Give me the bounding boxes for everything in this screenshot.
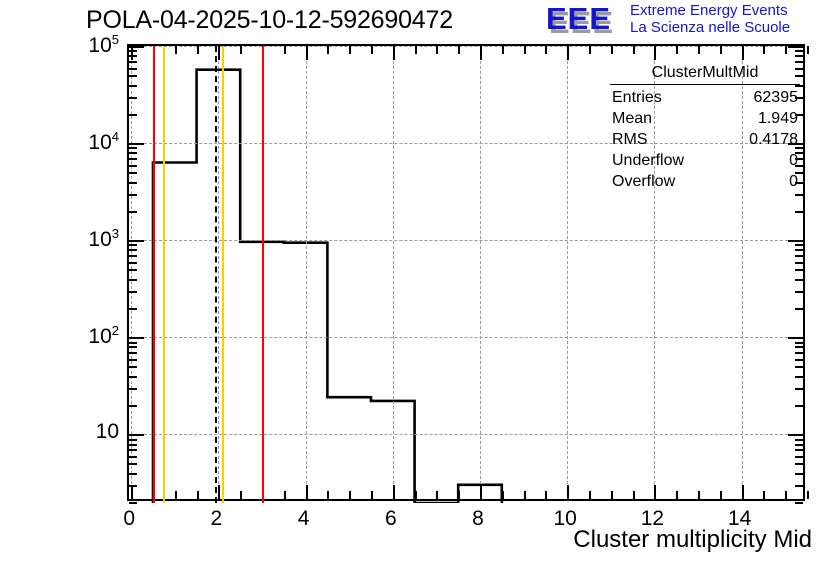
y-axis-tick [129,473,137,475]
x-axis-tick [240,46,242,54]
x-axis-tick [720,491,722,499]
y-axis-tick [129,456,137,458]
y-axis-tick [129,249,137,251]
marker-line-black-mean-dashed [215,46,217,503]
x-axis-tick [785,46,787,54]
y-axis-tick [129,165,137,167]
x-axis-tick [458,46,460,54]
stats-row-value: 0 [789,171,798,192]
marker-line-red-upper-cut [262,46,264,503]
eee-mark-text: EEE [546,3,611,34]
y-axis-tick [795,50,803,52]
y-axis-tick [795,388,803,390]
stats-row-label: RMS [612,129,648,150]
x-axis-tick-label: 8 [448,508,508,529]
x-axis-tick-label: 0 [99,508,159,529]
y-axis-tick [129,68,137,70]
y-axis-tick [129,75,137,77]
x-axis-tick [371,46,373,54]
marker-line-red-lower-cut [153,46,155,503]
y-axis-tick [129,388,137,390]
x-axis-tick [742,46,744,60]
y-axis-tick [795,439,803,441]
y-axis-tick [129,449,137,451]
stats-row: Underflow0 [610,150,800,171]
x-axis-tick [284,491,286,499]
y-axis-tick [129,376,137,378]
y-axis-tick [129,342,137,344]
stats-row-label: Mean [612,108,652,129]
y-axis-tick [788,240,803,242]
y-axis-tick-label: 105 [88,33,119,56]
x-axis-tick [589,46,591,54]
eee-tagline-line2: La Scienza nelle Scuole [630,20,790,36]
y-axis-tick [795,194,803,196]
gridline-vertical [218,46,219,499]
gridline-horizontal [129,337,803,338]
x-axis-tick [393,46,395,60]
y-axis-tick [795,444,803,446]
x-axis-tick [633,46,635,54]
y-axis-tick [129,434,144,436]
x-axis-tick [327,491,329,499]
y-axis-tick [129,359,137,361]
marker-line-orange-lower-warn [163,46,165,503]
y-axis-tick [795,376,803,378]
x-axis-title: Cluster multiplicity Mid [573,527,812,553]
y-axis-tick [129,366,137,368]
x-axis-tick [436,491,438,499]
x-axis-tick [763,491,765,499]
x-axis-tick [197,46,199,54]
x-axis-tick [524,46,526,54]
x-axis-tick [306,485,308,499]
x-axis-tick [327,46,329,54]
y-axis-tick [795,269,803,271]
y-axis-tick [129,114,137,116]
y-axis-tick [129,262,137,264]
x-axis-tick [524,491,526,499]
stats-row-value: 0 [789,150,798,171]
y-axis-tick [129,61,137,63]
y-axis-tick [795,456,803,458]
gridline-horizontal [129,240,803,241]
eee-logo: EEE Extreme Energy Events La Scienza nel… [546,2,832,38]
y-axis-tick [795,502,803,504]
y-axis-tick [129,444,137,446]
x-axis-tick-label: 2 [186,508,246,529]
stats-row-label: Underflow [612,150,684,171]
x-axis-tick [742,485,744,499]
y-axis-tick [129,143,144,145]
gridline-vertical [393,46,394,499]
y-axis-tick [795,359,803,361]
y-axis-tick [129,158,137,160]
y-axis-tick [129,255,137,257]
x-axis-tick [306,46,308,60]
stats-box: ClusterMultMid Entries62395Mean1.949RMS0… [610,62,800,192]
y-axis-tick [795,255,803,257]
y-axis-tick [129,337,144,339]
stats-row-label: Entries [612,87,662,108]
x-axis-tick [415,46,417,54]
y-axis-tick [795,352,803,354]
y-axis-tick [795,405,803,407]
x-axis-tick [131,46,133,60]
x-axis-tick [175,46,177,54]
plot-canvas: POLA-04-2025-10-12-592690472 EEE Extreme… [0,0,836,572]
gridline-horizontal [129,46,803,47]
x-axis-tick [131,485,133,499]
x-axis-tick [698,491,700,499]
x-axis-tick [197,491,199,499]
stats-box-title: ClusterMultMid [610,62,800,85]
y-axis-tick [795,262,803,264]
y-axis-tick [795,308,803,310]
y-axis-tick [129,97,137,99]
stats-row-value: 1.949 [758,108,798,129]
x-axis-tick [633,491,635,499]
histogram-outline [153,70,502,503]
y-axis-tick-label: 10 [96,421,119,442]
gridline-horizontal [129,434,803,435]
y-axis-tick [129,152,137,154]
y-axis-tick [795,55,803,57]
x-axis-tick [763,46,765,54]
y-axis-tick [795,473,803,475]
y-axis-tick [129,291,137,293]
y-axis-tick [795,211,803,213]
y-axis-tick [129,405,137,407]
y-axis-tick [129,85,137,87]
y-axis-tick [129,269,137,271]
x-axis-tick [502,491,504,499]
y-axis-tick [129,194,137,196]
stats-row-label: Overflow [612,171,675,192]
x-axis-tick [371,491,373,499]
stats-row-value: 0.4178 [749,129,798,150]
y-axis-tick [129,346,137,348]
x-axis-tick [240,491,242,499]
y-axis-tick [129,439,137,441]
eee-tagline-line1: Extreme Energy Events [630,3,788,19]
x-axis-tick [545,491,547,499]
y-axis-tick-label: 104 [88,130,119,153]
x-axis-tick [545,46,547,54]
page-title: POLA-04-2025-10-12-592690472 [86,6,453,34]
x-axis-tick [502,46,504,54]
x-axis-tick [218,46,220,60]
x-axis-tick [284,46,286,54]
x-axis-tick-label: 4 [274,508,334,529]
x-axis-tick [349,491,351,499]
y-axis-tick [795,291,803,293]
y-axis-tick [129,172,137,174]
y-axis-tick [129,211,137,213]
y-axis-tick [129,240,144,242]
y-axis-tick [129,182,137,184]
y-axis-tick [129,502,137,504]
x-axis-tick [807,46,809,54]
gridline-vertical [306,46,307,499]
stats-row: RMS0.4178 [610,129,800,150]
x-axis-tick [480,485,482,499]
y-axis-tick [129,352,137,354]
stats-row: Entries62395 [610,87,800,108]
y-axis-tick [795,366,803,368]
x-axis-tick [611,491,613,499]
marker-line-orange-upper-warn [222,46,224,503]
y-axis-tick-label: 103 [88,227,119,250]
y-axis-tick [129,463,137,465]
x-axis-tick [654,485,656,499]
x-axis-tick [349,46,351,54]
stats-row-value: 62395 [754,87,799,108]
y-axis-tick [788,46,803,48]
x-axis-tick [458,491,460,499]
y-axis-tick [788,337,803,339]
y-axis-tick [795,485,803,487]
y-axis-tick [795,249,803,251]
y-axis-tick [795,463,803,465]
x-axis-tick [676,491,678,499]
x-axis-tick [567,46,569,60]
x-axis-tick [393,485,395,499]
gridline-vertical [567,46,568,499]
x-axis-tick-label: 6 [361,508,421,529]
y-axis-tick [788,434,803,436]
stats-row: Overflow0 [610,171,800,192]
x-axis-tick [676,46,678,54]
x-axis-tick [654,46,656,60]
x-axis-tick [175,491,177,499]
y-axis-tick [129,147,137,149]
y-axis-tick [129,244,137,246]
y-axis-tick [129,308,137,310]
x-axis-tick [436,46,438,54]
y-axis-tick [795,244,803,246]
x-axis-tick [589,491,591,499]
x-axis-tick [720,46,722,54]
x-axis-tick [480,46,482,60]
x-axis-tick [611,46,613,54]
gridline-vertical [480,46,481,499]
x-axis-tick [415,491,417,499]
x-axis-tick [698,46,700,54]
stats-row: Mean1.949 [610,108,800,129]
y-axis-tick [795,346,803,348]
y-axis-tick [129,279,137,281]
y-axis-tick-label: 102 [88,324,119,347]
x-axis-tick [785,491,787,499]
x-axis-tick [218,485,220,499]
y-axis-tick [795,279,803,281]
x-axis-tick [567,485,569,499]
x-axis-tick [807,491,809,499]
y-axis-tick [795,342,803,344]
y-axis-tick [795,449,803,451]
